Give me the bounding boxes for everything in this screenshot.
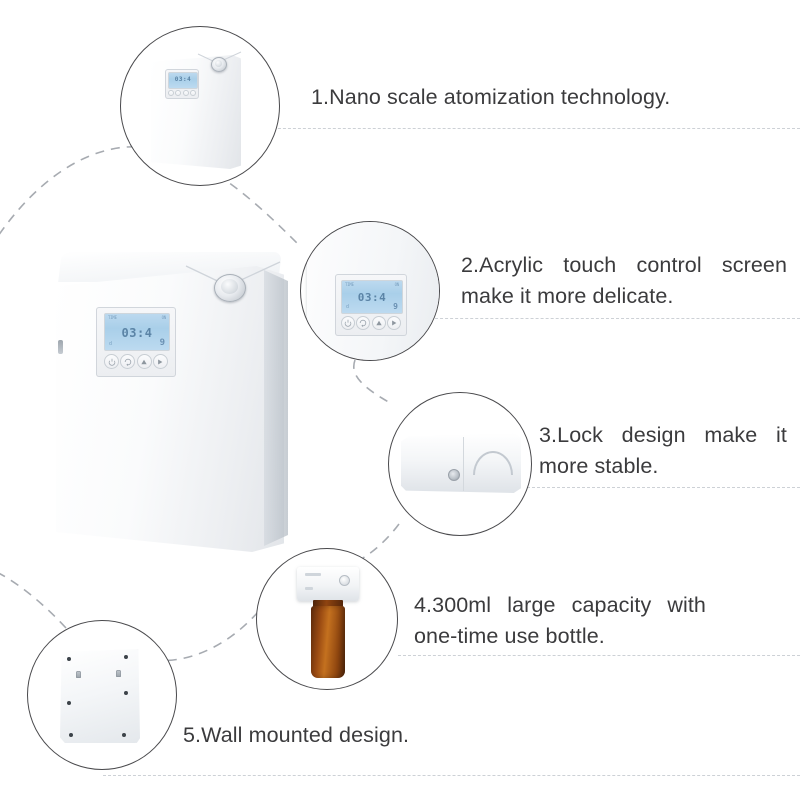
right-button[interactable] bbox=[153, 354, 168, 369]
feature-text-4: 4.300ml large capacity with one-time use… bbox=[414, 590, 706, 652]
callout-3-lock-cover bbox=[401, 433, 521, 495]
feature-text-5: 5.Wall mounted design. bbox=[183, 720, 483, 751]
callout-1-button-row bbox=[168, 90, 196, 96]
divider-line-2 bbox=[430, 318, 800, 319]
feature-callout-bottle bbox=[256, 548, 398, 690]
callout-4-bottle-assembly bbox=[295, 567, 361, 679]
callout-2-device: TIME ON 03:4 9 d bbox=[307, 221, 440, 361]
mount-hole-top-left bbox=[67, 657, 71, 661]
callout-1-device: 03:4 bbox=[151, 51, 243, 171]
feature-callout-wall-mount bbox=[27, 620, 177, 770]
product-feature-infographic: TIME ON 03:4 9 d bbox=[0, 0, 800, 800]
device-side-port bbox=[58, 340, 63, 354]
divider-line-5 bbox=[103, 775, 800, 776]
callout-2-lcd: TIME ON 03:4 9 d bbox=[341, 280, 403, 314]
callout-2-lcd-left: d bbox=[346, 304, 349, 310]
lock-screw-icon bbox=[448, 469, 460, 481]
feature-callout-lock-design bbox=[388, 392, 532, 536]
callout-2-lcd-right: 9 bbox=[393, 302, 398, 311]
lock-knob-inner bbox=[221, 279, 238, 294]
callout-5-backplate-assembly bbox=[60, 649, 142, 745]
callout-2-power-button[interactable] bbox=[341, 316, 355, 330]
control-panel: TIME ON 03:4 9 d bbox=[96, 307, 176, 377]
lcd-display: TIME ON 03:4 9 d bbox=[104, 313, 170, 351]
callout-2-up-button[interactable] bbox=[372, 316, 386, 330]
mount-hole-bottom-left bbox=[69, 733, 73, 737]
feature-text-3: 3.Lock design make it more stable. bbox=[539, 420, 787, 482]
callout-1-mode-button[interactable] bbox=[175, 90, 181, 96]
main-product-image: TIME ON 03:4 9 d bbox=[56, 252, 288, 552]
mount-hole-mid-left bbox=[67, 701, 71, 705]
mount-slot-left bbox=[76, 671, 81, 678]
cover-seam bbox=[463, 437, 464, 491]
mount-slot-right bbox=[116, 670, 121, 677]
head-vent-slot bbox=[305, 573, 321, 576]
feature-callout-control-screen: TIME ON 03:4 9 d bbox=[300, 221, 440, 361]
feature-callout-full-unit: 03:4 bbox=[120, 26, 280, 186]
divider-line-1 bbox=[248, 128, 800, 129]
device-right-face bbox=[264, 270, 288, 546]
callout-1-knob-inner bbox=[215, 60, 222, 67]
up-button[interactable] bbox=[137, 354, 152, 369]
mount-hole-mid-right bbox=[124, 691, 128, 695]
feature-text-1: 1.Nano scale atomization technology. bbox=[311, 82, 711, 113]
callout-2-lcd-top-left: TIME bbox=[345, 282, 354, 287]
feature-text-2: 2.Acrylic touch control screen make it m… bbox=[461, 250, 787, 312]
lcd-right-value: 9 bbox=[160, 338, 165, 348]
callout-2-lcd-top-right: ON bbox=[395, 282, 399, 287]
power-button[interactable] bbox=[104, 354, 119, 369]
callout-2-button-row bbox=[341, 316, 401, 330]
mount-hole-bottom-right bbox=[122, 733, 126, 737]
lcd-top-right-label: ON bbox=[162, 315, 166, 320]
callout-1-lcd: 03:4 bbox=[168, 72, 198, 89]
callout-1-lock-knob[interactable] bbox=[211, 57, 227, 72]
callout-1-lcd-value: 03:4 bbox=[169, 76, 197, 83]
callout-1-control-panel: 03:4 bbox=[165, 69, 199, 99]
callout-1-up-button[interactable] bbox=[183, 90, 189, 96]
mount-hole-top-right bbox=[124, 655, 128, 659]
head-lock-knob[interactable] bbox=[339, 575, 350, 586]
callout-1-right-button[interactable] bbox=[190, 90, 196, 96]
callout-2-right-button[interactable] bbox=[387, 316, 401, 330]
divider-line-4 bbox=[398, 655, 800, 656]
control-button-row bbox=[104, 354, 168, 369]
callout-2-mode-button[interactable] bbox=[356, 316, 370, 330]
lock-knob[interactable] bbox=[214, 274, 246, 302]
wall-mount-backplate bbox=[60, 649, 140, 743]
oil-bottle bbox=[311, 606, 345, 678]
lcd-bottom-left-value: d bbox=[109, 341, 112, 347]
lcd-top-left-label: TIME bbox=[108, 315, 117, 320]
callout-2-lcd-top: TIME ON bbox=[345, 282, 399, 287]
mode-button[interactable] bbox=[120, 354, 135, 369]
bottle-atomizer-head bbox=[297, 567, 359, 601]
callout-2-control-panel: TIME ON 03:4 9 d bbox=[335, 274, 407, 336]
callout-1-power-button[interactable] bbox=[168, 90, 174, 96]
divider-line-3 bbox=[522, 487, 800, 488]
head-vent-slot-2 bbox=[305, 587, 313, 590]
lcd-top-indicators: TIME ON bbox=[108, 315, 166, 320]
